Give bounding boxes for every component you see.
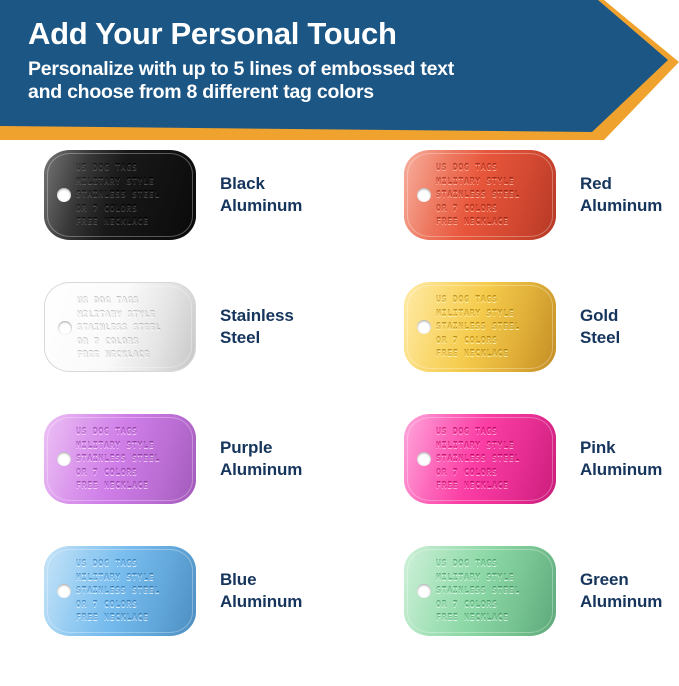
engraving-line-1: US DOG TAGS <box>76 425 191 439</box>
engraving-line-4: OR 7 COLORS <box>77 335 190 349</box>
tag-label: Red Aluminum <box>580 173 662 218</box>
engraving-line-1: US DOG TAGS <box>77 294 190 308</box>
engraving-line-3: STAINLESS STEEL <box>436 584 551 598</box>
engraving-line-2: MILITARY STYLE <box>77 308 190 322</box>
tag-hole-icon <box>57 188 71 202</box>
engraving-line-5: FREE NECKLACE <box>76 479 191 493</box>
engraving-line-2: MILITARY STYLE <box>436 571 551 585</box>
tag-engraving: US DOG TAGS MILITARY STYLE STAINLESS STE… <box>436 161 551 229</box>
banner-subtitle-line-1: Personalize with up to 5 lines of emboss… <box>28 58 588 82</box>
tag-label-line-1: Black <box>220 173 302 195</box>
engraving-line-1: US DOG TAGS <box>436 557 551 571</box>
engraving-line-3: STAINLESS STEEL <box>77 321 190 335</box>
tag-engraving: US DOG TAGS MILITARY STYLE STAINLESS STE… <box>76 557 191 625</box>
tag-option-purple[interactable]: US DOG TAGS MILITARY STYLE STAINLESS STE… <box>44 414 302 504</box>
tag-label-line-2: Steel <box>220 327 294 349</box>
engraving-line-4: OR 7 COLORS <box>436 334 551 348</box>
engraving-line-5: FREE NECKLACE <box>436 611 551 625</box>
engraving-line-2: MILITARY STYLE <box>76 175 191 189</box>
engraving-line-4: OR 7 COLORS <box>436 598 551 612</box>
tag-option-stainless-steel[interactable]: US DOG TAGS MILITARY STYLE STAINLESS STE… <box>44 282 294 372</box>
tag-engraving: US DOG TAGS MILITARY STYLE STAINLESS STE… <box>76 161 191 229</box>
dog-tag-pink[interactable]: US DOG TAGS MILITARY STYLE STAINLESS STE… <box>404 414 556 504</box>
tag-option-black[interactable]: US DOG TAGS MILITARY STYLE STAINLESS STE… <box>44 150 302 240</box>
tag-hole-icon <box>417 320 431 334</box>
tag-option-gold-steel[interactable]: US DOG TAGS MILITARY STYLE STAINLESS STE… <box>404 282 620 372</box>
tag-hole-icon <box>57 452 71 466</box>
engraving-line-2: MILITARY STYLE <box>436 439 551 453</box>
banner-subtitle: Personalize with up to 5 lines of emboss… <box>28 58 588 106</box>
tag-label-line-1: Gold <box>580 305 620 327</box>
engraving-line-3: STAINLESS STEEL <box>436 188 551 202</box>
engraving-line-2: MILITARY STYLE <box>436 307 551 321</box>
engraving-line-4: OR 7 COLORS <box>436 202 551 216</box>
dog-tag-blue[interactable]: US DOG TAGS MILITARY STYLE STAINLESS STE… <box>44 546 196 636</box>
dog-tag-green[interactable]: US DOG TAGS MILITARY STYLE STAINLESS STE… <box>404 546 556 636</box>
tag-label-line-1: Pink <box>580 437 662 459</box>
tag-label: Green Aluminum <box>580 569 662 614</box>
engraving-line-5: FREE NECKLACE <box>76 611 191 625</box>
tag-hole-icon <box>417 452 431 466</box>
tag-label-line-2: Aluminum <box>580 195 662 217</box>
dog-tag-black[interactable]: US DOG TAGS MILITARY STYLE STAINLESS STE… <box>44 150 196 240</box>
banner-title: Add Your Personal Touch <box>28 16 588 52</box>
engraving-line-2: MILITARY STYLE <box>76 439 191 453</box>
engraving-line-2: MILITARY STYLE <box>436 175 551 189</box>
tag-label-line-2: Aluminum <box>220 591 302 613</box>
tag-option-blue[interactable]: US DOG TAGS MILITARY STYLE STAINLESS STE… <box>44 546 302 636</box>
tag-label: Black Aluminum <box>220 173 302 218</box>
tag-label-line-1: Red <box>580 173 662 195</box>
tag-option-pink[interactable]: US DOG TAGS MILITARY STYLE STAINLESS STE… <box>404 414 662 504</box>
tag-engraving: US DOG TAGS MILITARY STYLE STAINLESS STE… <box>436 425 551 493</box>
tag-engraving: US DOG TAGS MILITARY STYLE STAINLESS STE… <box>77 294 190 362</box>
engraving-line-4: OR 7 COLORS <box>76 466 191 480</box>
engraving-line-1: US DOG TAGS <box>76 557 191 571</box>
tag-engraving: US DOG TAGS MILITARY STYLE STAINLESS STE… <box>436 557 551 625</box>
engraving-line-4: OR 7 COLORS <box>76 202 191 216</box>
banner-subtitle-line-2: and choose from 8 different tag colors <box>28 81 588 105</box>
engraving-line-3: STAINLESS STEEL <box>76 452 191 466</box>
engraving-line-1: US DOG TAGS <box>436 161 551 175</box>
tag-label: Purple Aluminum <box>220 437 302 482</box>
dog-tag-red[interactable]: US DOG TAGS MILITARY STYLE STAINLESS STE… <box>404 150 556 240</box>
engraving-line-3: STAINLESS STEEL <box>436 452 551 466</box>
tag-hole-icon <box>58 321 72 335</box>
tag-label-line-1: Stainless <box>220 305 294 327</box>
tag-label: Stainless Steel <box>220 305 294 350</box>
engraving-line-1: US DOG TAGS <box>436 293 551 307</box>
engraving-line-2: MILITARY STYLE <box>76 571 191 585</box>
engraving-line-5: FREE NECKLACE <box>76 215 191 229</box>
tag-label-line-1: Blue <box>220 569 302 591</box>
tag-label-line-2: Aluminum <box>580 459 662 481</box>
tag-color-grid: US DOG TAGS MILITARY STYLE STAINLESS STE… <box>0 150 679 686</box>
engraving-line-5: FREE NECKLACE <box>436 479 551 493</box>
dog-tag-stainless-steel[interactable]: US DOG TAGS MILITARY STYLE STAINLESS STE… <box>44 282 196 372</box>
engraving-line-3: STAINLESS STEEL <box>436 320 551 334</box>
engraving-line-5: FREE NECKLACE <box>77 348 190 362</box>
engraving-line-5: FREE NECKLACE <box>436 347 551 361</box>
tag-option-green[interactable]: US DOG TAGS MILITARY STYLE STAINLESS STE… <box>404 546 662 636</box>
engraving-line-3: STAINLESS STEEL <box>76 188 191 202</box>
tag-label-line-2: Aluminum <box>220 459 302 481</box>
tag-label-line-1: Purple <box>220 437 302 459</box>
banner-text-block: Add Your Personal Touch Personalize with… <box>28 16 588 105</box>
engraving-line-4: OR 7 COLORS <box>436 466 551 480</box>
promo-banner: Add Your Personal Touch Personalize with… <box>0 0 679 150</box>
tag-label-line-1: Green <box>580 569 662 591</box>
engraving-line-5: FREE NECKLACE <box>436 215 551 229</box>
tag-label: Pink Aluminum <box>580 437 662 482</box>
tag-label: Blue Aluminum <box>220 569 302 614</box>
engraving-line-1: US DOG TAGS <box>76 161 191 175</box>
engraving-line-1: US DOG TAGS <box>436 425 551 439</box>
tag-engraving: US DOG TAGS MILITARY STYLE STAINLESS STE… <box>436 293 551 361</box>
engraving-line-3: STAINLESS STEEL <box>76 584 191 598</box>
tag-label: Gold Steel <box>580 305 620 350</box>
tag-hole-icon <box>417 188 431 202</box>
tag-engraving: US DOG TAGS MILITARY STYLE STAINLESS STE… <box>76 425 191 493</box>
tag-label-line-2: Aluminum <box>580 591 662 613</box>
tag-hole-icon <box>57 584 71 598</box>
tag-label-line-2: Steel <box>580 327 620 349</box>
engraving-line-4: OR 7 COLORS <box>76 598 191 612</box>
tag-hole-icon <box>417 584 431 598</box>
tag-label-line-2: Aluminum <box>220 195 302 217</box>
dog-tag-purple[interactable]: US DOG TAGS MILITARY STYLE STAINLESS STE… <box>44 414 196 504</box>
tag-option-red[interactable]: US DOG TAGS MILITARY STYLE STAINLESS STE… <box>404 150 662 240</box>
dog-tag-gold-steel[interactable]: US DOG TAGS MILITARY STYLE STAINLESS STE… <box>404 282 556 372</box>
